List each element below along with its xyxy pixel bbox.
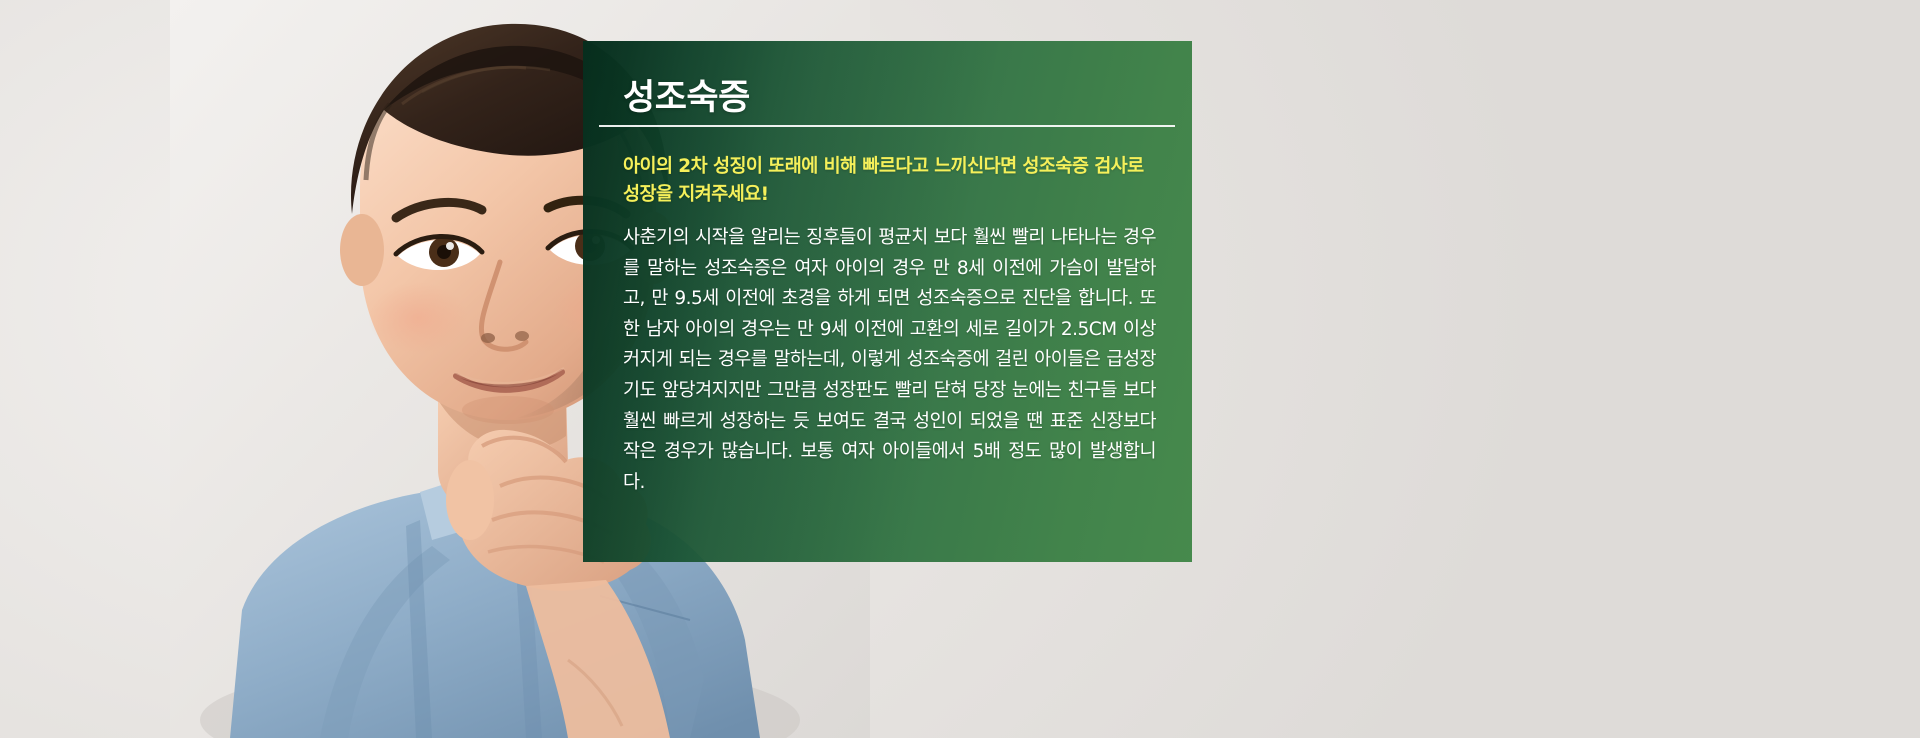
body-description: 사춘기의 시작을 알리는 징후들이 평균치 보다 훨씬 빨리 나타나는 경우를 … [623,223,1156,498]
page-title: 성조숙증 [623,79,750,118]
title-divider [599,125,1175,127]
info-panel: 성조숙증 아이의 2차 성징이 또래에 비해 빠르다고 느끼신다면 성조숙증 검… [583,41,1192,562]
banner-root: 성조숙증 아이의 2차 성징이 또래에 비해 빠르다고 느끼신다면 성조숙증 검… [0,0,1920,738]
info-panel-content: 성조숙증 아이의 2차 성징이 또래에 비해 빠르다고 느끼신다면 성조숙증 검… [623,41,1155,562]
lead-headline: 아이의 2차 성징이 또래에 비해 빠르다고 느끼신다면 성조숙증 검사로 성장… [623,153,1155,209]
body-paragraph: 사춘기의 시작을 알리는 징후들이 평균치 보다 훨씬 빨리 나타나는 경우를 … [623,223,1156,498]
